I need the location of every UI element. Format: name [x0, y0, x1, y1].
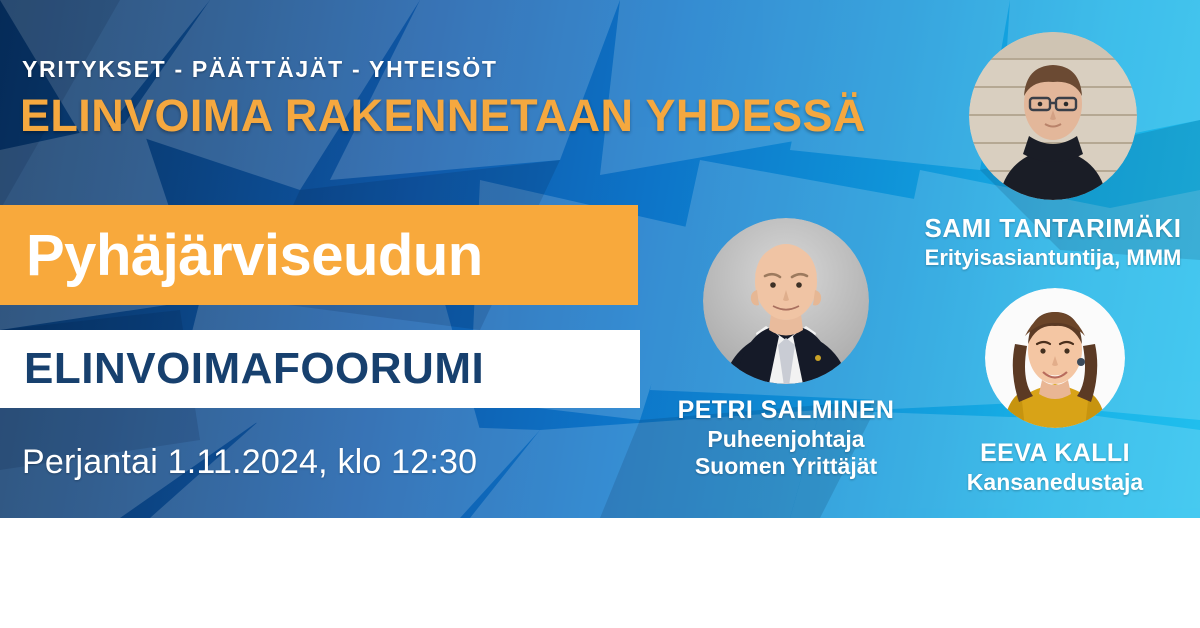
title-line-1: Pyhäjärviseudun — [26, 222, 483, 289]
speaker-card-sami: SAMI TANTARIMÄKI Erityisasiantuntija, MM… — [908, 32, 1198, 270]
event-poster: YRITYKSET - PÄÄTTÄJÄT - YHTEISÖT ELINVOI… — [0, 0, 1200, 628]
speaker-role-eeva: Kansanedustaja — [930, 470, 1180, 496]
poster-stage: YRITYKSET - PÄÄTTÄJÄT - YHTEISÖT ELINVOI… — [0, 0, 1200, 518]
kicker-text: YRITYKSET - PÄÄTTÄJÄT - YHTEISÖT — [22, 56, 498, 83]
speaker-role-sami: Erityisasiantuntija, MMM — [908, 246, 1198, 271]
title-band-white: ELINVOIMAFOORUMI — [0, 330, 640, 408]
speaker-photo-eeva — [985, 288, 1125, 428]
speaker-role-petri-1: Puheenjohtaja — [640, 427, 932, 453]
headline-text: ELINVOIMA RAKENNETAAN YHDESSÄ — [20, 90, 866, 142]
title-line-2: ELINVOIMAFOORUMI — [24, 344, 484, 394]
speaker-photo-petri — [703, 218, 869, 384]
speaker-card-eeva: EEVA KALLI Kansanedustaja — [930, 288, 1180, 495]
event-datetime: Perjantai 1.11.2024, klo 12:30 — [22, 443, 477, 482]
sponsor-logo-bar: JCI TM P — [0, 518, 1200, 628]
title-band-orange: Pyhäjärviseudun — [0, 205, 638, 305]
speaker-role-petri-2: Suomen Yrittäjät — [640, 454, 932, 480]
speaker-name-petri: PETRI SALMINEN — [640, 397, 932, 425]
speaker-name-eeva: EEVA KALLI — [930, 440, 1180, 468]
speaker-photo-sami — [969, 32, 1137, 200]
speaker-card-petri: PETRI SALMINEN Puheenjohtaja Suomen Yrit… — [640, 218, 932, 480]
speaker-name-sami: SAMI TANTARIMÄKI — [908, 214, 1198, 243]
